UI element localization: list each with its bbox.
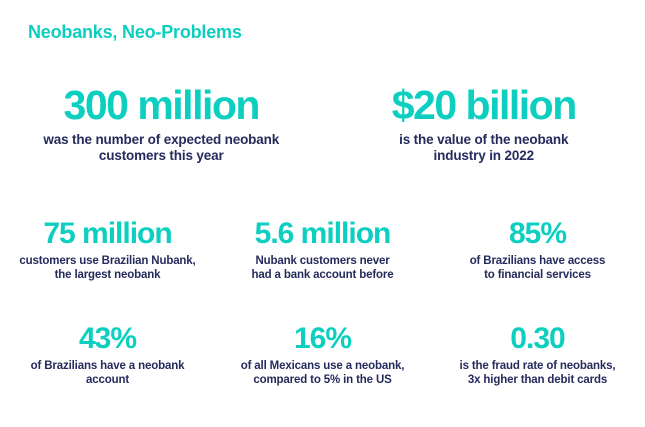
stat-value: 75 million [6, 218, 209, 250]
stat-value: $20 billion [329, 84, 640, 127]
stat-description-line: customers use Brazilian Nubank, [6, 254, 209, 268]
stat-card: 5.6 million Nubank customers never had a… [215, 218, 430, 282]
stats-row-middle: 75 million customers use Brazilian Nuban… [0, 218, 645, 282]
stat-description-line: is the fraud rate of neobanks, [436, 359, 639, 373]
stat-card: $20 billion is the value of the neobank … [323, 84, 645, 164]
stat-card: 300 million was the number of expected n… [0, 84, 323, 164]
stat-value: 300 million [6, 84, 317, 127]
stat-card: 75 million customers use Brazilian Nuban… [0, 218, 215, 282]
stats-row-hero: 300 million was the number of expected n… [0, 84, 645, 164]
stat-value: 5.6 million [221, 218, 424, 250]
stat-value: 0.30 [436, 323, 639, 355]
stat-description-line: customers this year [6, 148, 317, 164]
stat-description-line: industry in 2022 [329, 148, 640, 164]
stat-card: 85% of Brazilians have access to financi… [430, 218, 645, 282]
stat-description-line: is the value of the neobank [329, 132, 640, 148]
page-title: Neobanks, Neo-Problems [28, 22, 242, 43]
stat-description-line: compared to 5% in the US [221, 373, 424, 387]
stat-description: is the fraud rate of neobanks, 3x higher… [436, 359, 639, 387]
stat-description: was the number of expected neobank custo… [6, 132, 317, 164]
stat-description-line: of Brazilians have a neobank [6, 359, 209, 373]
stat-description: is the value of the neobank industry in … [329, 132, 640, 164]
stat-description-line: Nubank customers never [221, 254, 424, 268]
stat-value: 16% [221, 323, 424, 355]
stats-row-bottom: 43% of Brazilians have a neobank account… [0, 323, 645, 387]
stat-card: 0.30 is the fraud rate of neobanks, 3x h… [430, 323, 645, 387]
stat-description-line: of all Mexicans use a neobank, [221, 359, 424, 373]
stat-card: 16% of all Mexicans use a neobank, compa… [215, 323, 430, 387]
stat-description-line: account [6, 373, 209, 387]
stat-description: customers use Brazilian Nubank, the larg… [6, 254, 209, 282]
stat-description: of all Mexicans use a neobank, compared … [221, 359, 424, 387]
stat-description-line: the largest neobank [6, 268, 209, 282]
stat-description-line: 3x higher than debit cards [436, 373, 639, 387]
stat-value: 85% [436, 218, 639, 250]
stat-description-line: had a bank account before [221, 268, 424, 282]
stat-value: 43% [6, 323, 209, 355]
stat-description: of Brazilians have access to financial s… [436, 254, 639, 282]
stat-description-line: to financial services [436, 268, 639, 282]
stat-description-line: was the number of expected neobank [6, 132, 317, 148]
infographic-canvas: Neobanks, Neo-Problems 300 million was t… [0, 0, 645, 427]
stat-description: Nubank customers never had a bank accoun… [221, 254, 424, 282]
stat-card: 43% of Brazilians have a neobank account [0, 323, 215, 387]
stat-description: of Brazilians have a neobank account [6, 359, 209, 387]
stat-description-line: of Brazilians have access [436, 254, 639, 268]
